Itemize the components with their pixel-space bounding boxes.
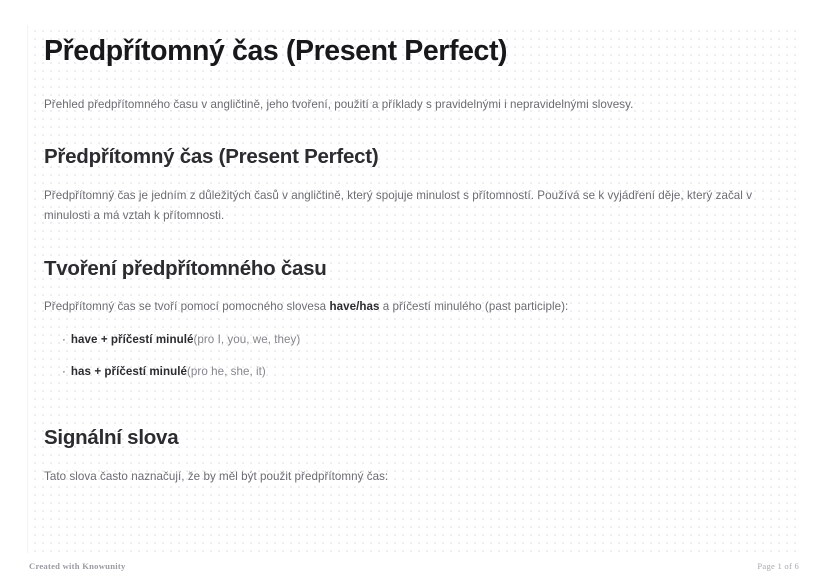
list-item-note: (pro I, you, we, they) — [193, 333, 300, 346]
page-footer: Created with Knowunity Page 1 of 6 — [0, 553, 828, 586]
footer-page-number: Page 1 of 6 — [757, 561, 799, 571]
list-item: ·has + příčestí minulé(pro he, she, it) — [62, 363, 784, 395]
section-paragraph-signal-words: Tato slova často naznačují, že by měl bý… — [44, 451, 784, 487]
formation-auxiliary-highlight: have/has — [329, 300, 379, 313]
list-item-note: (pro he, she, it) — [187, 365, 266, 378]
section-formation: Tvoření předpřítomného času Předpřítomný… — [44, 226, 784, 395]
formation-text-before: Předpřítomný čas se tvoří pomocí pomocné… — [44, 300, 329, 313]
page-title: Předpřítomný čas (Present Perfect) — [44, 34, 784, 68]
section-heading-signal-words: Signální slova — [44, 425, 784, 451]
section-signal-words: Signální slova Tato slova často naznačuj… — [44, 394, 784, 487]
bullet-dot-icon: · — [62, 331, 71, 350]
document-subtitle: Přehled předpřítomného času v angličtině… — [44, 68, 784, 114]
footer-credit: Created with Knowunity — [29, 561, 126, 571]
formation-text-after: a příčestí minulého (past participle): — [379, 300, 568, 313]
formation-bullet-list: ·have + příčestí minulé(pro I, you, we, … — [44, 317, 784, 394]
document-content: Předpřítomný čas (Present Perfect) Přehl… — [44, 34, 784, 487]
bullet-dot-icon: · — [62, 363, 71, 382]
section-paragraph-present-perfect: Předpřítomný čas je jedním z důležitých … — [44, 170, 784, 226]
section-heading-formation: Tvoření předpřítomného času — [44, 256, 784, 282]
list-item: ·have + příčestí minulé(pro I, you, we, … — [62, 331, 784, 363]
section-present-perfect-intro: Předpřítomný čas (Present Perfect) Předp… — [44, 114, 784, 226]
section-heading-present-perfect: Předpřítomný čas (Present Perfect) — [44, 144, 784, 170]
list-item-term: have + příčestí minulé — [71, 333, 194, 346]
section-paragraph-formation: Předpřítomný čas se tvoří pomocí pomocné… — [44, 281, 784, 317]
list-item-term: has + příčestí minulé — [71, 365, 187, 378]
